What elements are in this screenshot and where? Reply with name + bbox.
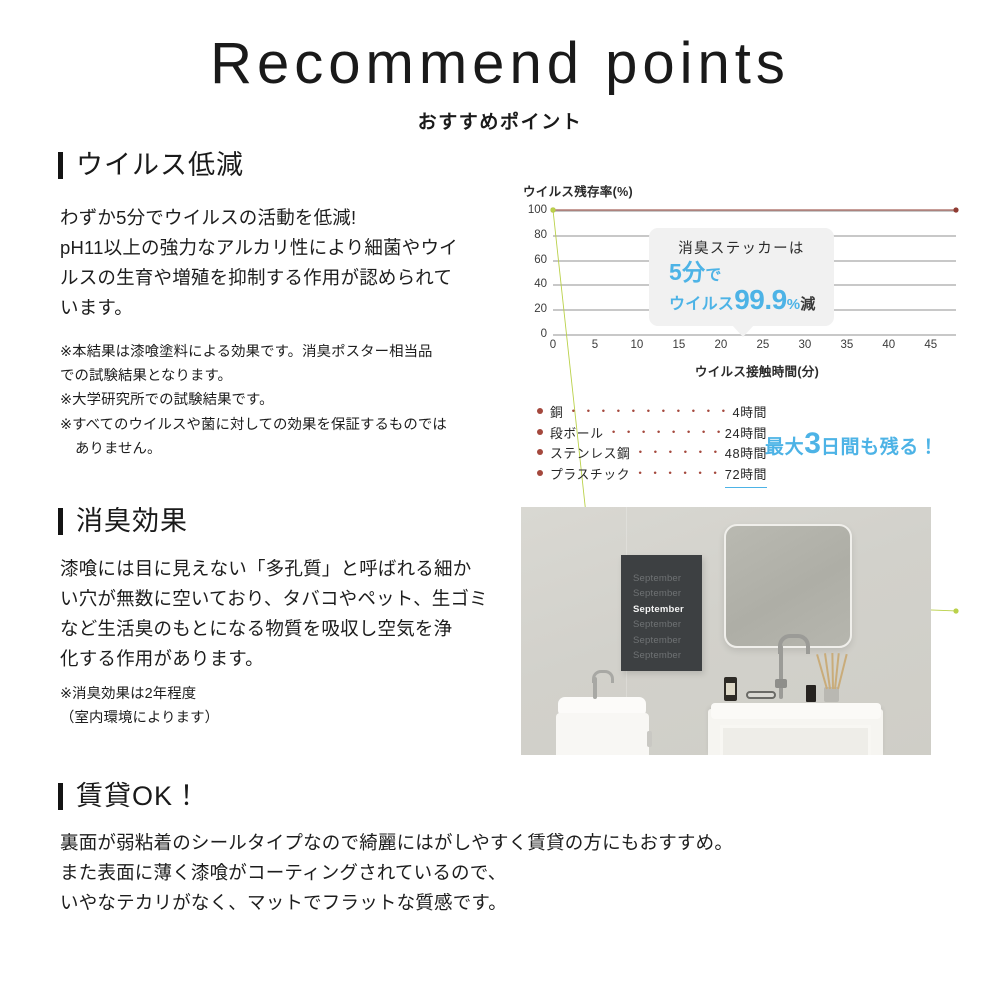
poster-line: September: [633, 586, 702, 601]
legend-row: 段ボール ・・・・・・・・・・・・・・ 24時間: [537, 424, 767, 445]
body-line: います。: [60, 293, 520, 323]
page-title: Recommend points: [0, 34, 1000, 95]
y-tick-label: 20: [534, 303, 547, 315]
body-line: 裏面が弱粘着のシールタイプなので綺麗にはがしやすく賃貸の方にもおすすめ。: [60, 828, 800, 858]
chart-callout-bubble: 消臭ステッカーは 5分で ウイルス99.9%減: [649, 228, 834, 326]
page-subtitle: おすすめポイント: [0, 107, 1000, 134]
page-root: Recommend points おすすめポイント ウイルス低減 わずか5分でウ…: [0, 0, 1000, 1000]
legend-row: プラスチック ・・・・・・・・・・・・・・ 72時間: [537, 465, 767, 488]
callout-line-3: ウイルス99.9%減: [659, 285, 824, 315]
reed-stick: [831, 653, 833, 689]
callout-minutes-value: 5分: [669, 259, 705, 285]
y-tick-label: 100: [528, 204, 547, 216]
section-heading-virus: ウイルス低減: [58, 152, 244, 179]
section-body-virus: わずか5分でウイルスの活動を低減! pH11以上の強力なアルカリ性により細菌やウ…: [60, 203, 520, 323]
chart-data-point: [953, 608, 958, 613]
callout-line-2: 5分で: [659, 260, 824, 285]
callout-line-1: 消臭ステッカーは: [659, 237, 824, 258]
body-line: また表面に薄く漆喰がコーティングされているので、: [60, 858, 800, 888]
legend-leader-dots: ・・・・・・・・・・・・・・: [634, 443, 720, 462]
section-title-text: ウイルス低減: [76, 152, 244, 179]
body-line: ルスの生育や増殖を抑制する作用が認められて: [60, 263, 520, 293]
body-line: など生活臭のもとになる物質を吸収し空気を浄: [60, 614, 520, 644]
diffuser-bottle: [806, 685, 816, 702]
y-tick-label: 40: [534, 278, 547, 290]
max-duration-badge: 最大3日間も残る！: [765, 427, 939, 461]
body-line: 漆喰には目に見えない「多孔質」と呼ばれる細か: [60, 554, 520, 584]
wall-mirror: [724, 524, 852, 648]
y-tick-label: 0: [541, 328, 547, 340]
legend-item-value: 24時間: [725, 424, 767, 445]
sink-faucet: [779, 645, 783, 699]
bullet-dot-icon: [537, 470, 543, 476]
chart-grid-and-series: 100 80 60 40 20 0 0 5 10 15 20 25 30 35 …: [553, 210, 956, 334]
y-tick-label: 80: [534, 229, 547, 241]
poster-line: September: [633, 633, 702, 648]
chart-plot-area: 100 80 60 40 20 0 0 5 10 15 20 25 30 35 …: [523, 206, 958, 358]
callout-minutes-suffix: で: [705, 267, 721, 284]
legend-leader-dots: ・・・・・・・・・・・・・・: [567, 402, 728, 421]
badge-number: 3: [804, 427, 821, 460]
callout-reduction-suffix: 減: [800, 296, 815, 313]
section-title-text: 賃貸OK！: [76, 783, 201, 810]
page-header: Recommend points おすすめポイント: [0, 34, 1000, 134]
bullet-dot-icon: [537, 449, 543, 455]
amber-bottle: [724, 677, 737, 701]
diffuser-reeds: [825, 653, 839, 689]
bullet-dot-icon: [537, 408, 543, 414]
note-line: ※すべてのウイルスや菌に対しての効果を保証するものでは: [60, 413, 520, 437]
eyeglasses: [746, 691, 776, 699]
toilet-tank: [556, 713, 649, 755]
body-line: 化する作用があります。: [60, 644, 520, 674]
legend-item-label: 段ボール: [550, 424, 604, 445]
body-line: い穴が無数に空いており、タバコやペット、生ゴミ: [60, 584, 520, 614]
bathroom-installation-photo: September September September September …: [521, 507, 931, 755]
note-line: ※本結果は漆喰塗料による効果です。消臭ポスター相当品: [60, 340, 520, 364]
y-tick-label: 60: [534, 254, 547, 266]
section-notes-virus: ※本結果は漆喰塗料による効果です。消臭ポスター相当品 での試験結果となります。 …: [60, 340, 520, 461]
chart-y-axis-label: ウイルス残存率(%): [523, 181, 963, 200]
legend-row: 銅 ・・・・・・・・・・・・・・ 4時間: [537, 403, 767, 424]
virus-survival-chart: ウイルス残存率(%) 100 80 60 40 20 0 0 5 10: [523, 181, 963, 391]
chart-data-point: [550, 207, 555, 212]
heading-accent-bar: [58, 783, 63, 810]
legend-item-value: 4時間: [732, 403, 767, 424]
callout-percent-sign: %: [787, 296, 801, 313]
legend-item-label: プラスチック: [550, 465, 630, 486]
body-line: pH11以上の強力なアルカリ性により細菌やウイ: [60, 233, 520, 263]
note-line: での試験結果となります。: [60, 364, 520, 388]
poster-line: September: [633, 648, 702, 663]
note-line: （室内環境によります）: [60, 706, 520, 730]
note-line: ※消臭効果は2年程度: [60, 682, 520, 706]
sink-basin: [711, 703, 881, 719]
legend-leader-dots: ・・・・・・・・・・・・・・: [608, 423, 721, 442]
september-poster: September September September September …: [621, 555, 702, 671]
poster-line: September: [633, 617, 702, 632]
body-line: いやなテカリがなく、マットでフラットな質感です。: [60, 888, 800, 918]
section-title-text: 消臭効果: [76, 508, 188, 535]
surface-survival-legend: 銅 ・・・・・・・・・・・・・・ 4時間 段ボール ・・・・・・・・・・・・・・…: [537, 403, 767, 488]
callout-virus-prefix: ウイルス: [669, 296, 734, 313]
reed-stick: [837, 654, 847, 689]
badge-prefix: 最大: [765, 437, 804, 458]
legend-item-value: 48時間: [725, 444, 767, 465]
legend-item-value: 72時間: [725, 465, 767, 488]
section-heading-deodorant: 消臭効果: [58, 508, 188, 535]
legend-leader-dots: ・・・・・・・・・・・・・・: [634, 464, 721, 483]
section-heading-rental: 賃貸OK！: [58, 783, 201, 810]
poster-line-highlighted: September: [633, 602, 702, 617]
note-line: ※大学研究所での試験結果です。: [60, 388, 520, 412]
toilet-flush-handle: [647, 731, 652, 747]
body-line: わずか5分でウイルスの活動を低減!: [60, 203, 520, 233]
legend-item-label: 銅: [550, 403, 563, 424]
section-body-deodorant: 漆喰には目に見えない「多孔質」と呼ばれる細か い穴が無数に空いており、タバコやペ…: [60, 554, 520, 674]
toilet-tap: [593, 677, 597, 699]
bullet-dot-icon: [537, 429, 543, 435]
poster-line: September: [633, 571, 702, 586]
chart-data-point: [953, 207, 958, 212]
badge-suffix: 日間も残る！: [821, 437, 939, 458]
diffuser-holder: [824, 687, 839, 702]
callout-reduction-number: 99.9: [734, 284, 787, 315]
section-notes-deodorant: ※消臭効果は2年程度 （室内環境によります）: [60, 682, 520, 730]
section-body-rental: 裏面が弱粘着のシールタイプなので綺麗にはがしやすく賃貸の方にもおすすめ。 また表…: [60, 828, 800, 918]
heading-accent-bar: [58, 508, 63, 535]
heading-accent-bar: [58, 152, 63, 179]
note-line: ありません。: [60, 437, 520, 461]
legend-row: ステンレス鋼 ・・・・・・・・・・・・・・ 48時間: [537, 444, 767, 465]
legend-item-label: ステンレス鋼: [550, 444, 630, 465]
